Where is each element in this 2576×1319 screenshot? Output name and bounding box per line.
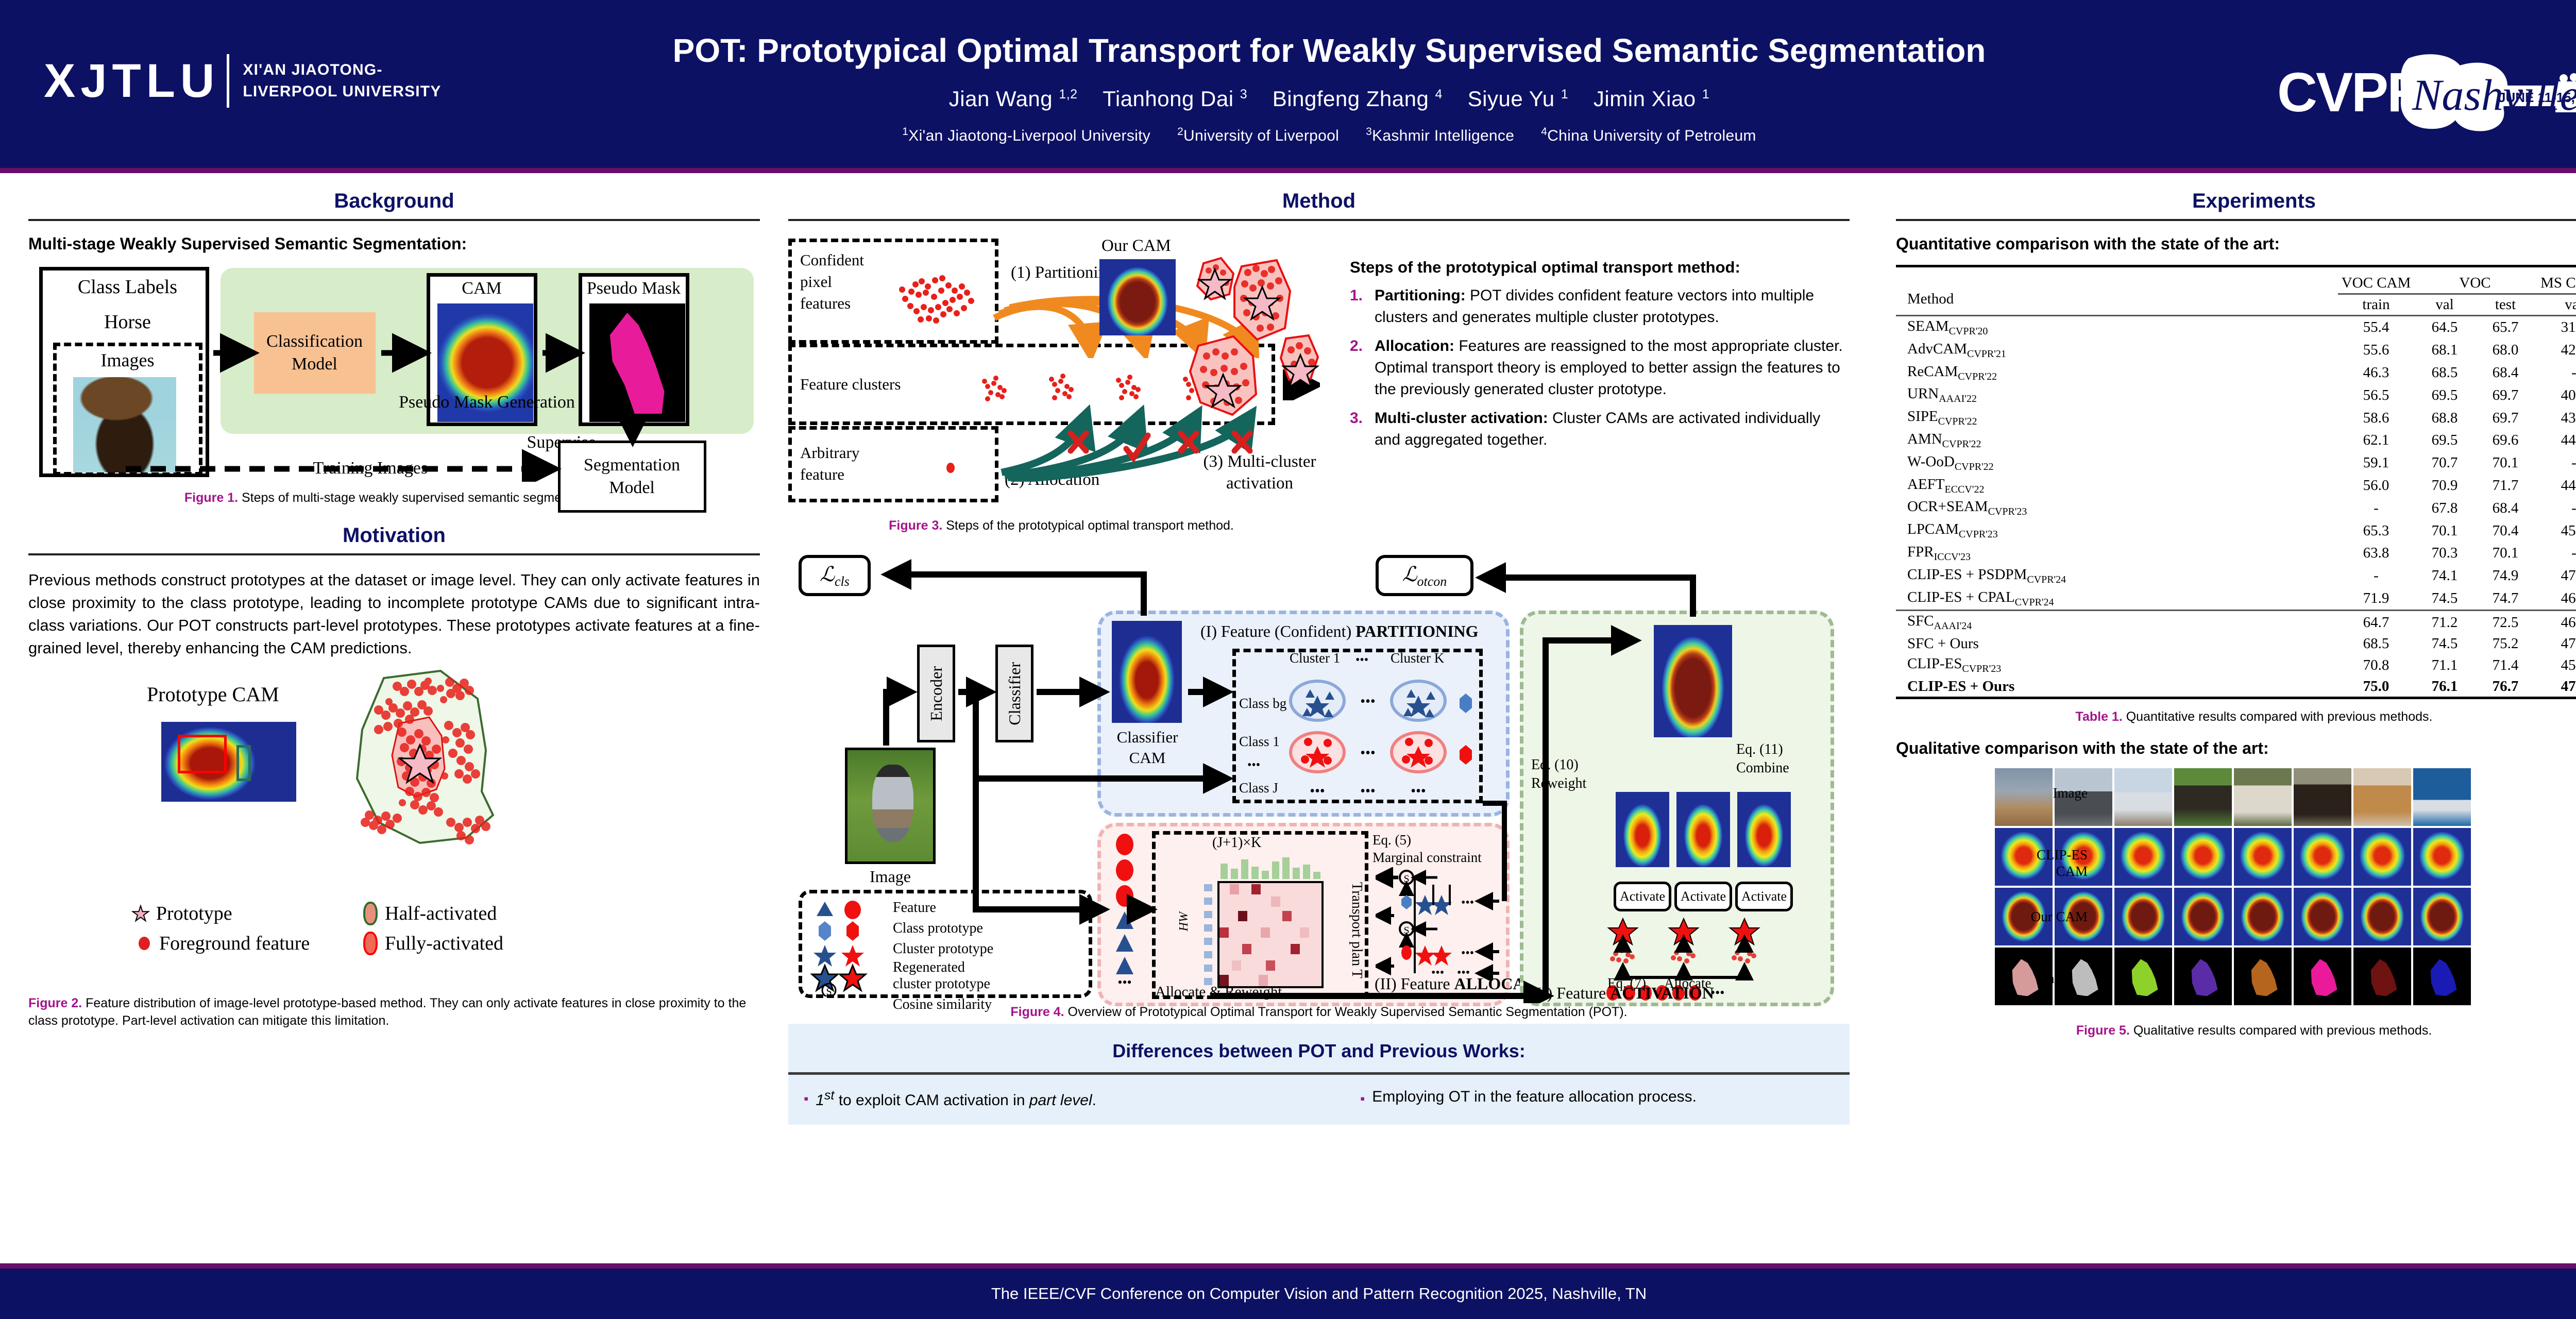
cell-voc-cam-train: 68.5 <box>2338 634 2414 654</box>
figure-2-caption: Figure 2. Feature distribution of image-… <box>28 994 760 1029</box>
cell-voc-val: 68.1 <box>2414 339 2475 362</box>
cell-voc-cam-train: 62.1 <box>2338 429 2414 452</box>
cell-coco-val: 44.8 <box>2536 475 2576 497</box>
cell-coco-val: 47.9 <box>2536 677 2576 698</box>
table-row: FPRICCV'2363.870.370.1- <box>1896 542 2576 565</box>
section-title-method: Method <box>788 190 1850 213</box>
section-rule-motivation <box>28 553 760 555</box>
confident-feature-scatter <box>885 263 993 335</box>
cell-method: OCR+SEAMCVPR'23 <box>1896 497 2338 519</box>
cell-voc-val: 74.1 <box>2414 565 2475 587</box>
column-experiments: Experiments Quantitative comparison with… <box>1896 190 2576 1039</box>
figure-5-cell <box>2293 946 2352 1006</box>
table-row: CLIP-ES + Ours75.076.176.747.9 <box>1896 677 2576 698</box>
cell-coco-val: 45.4 <box>2536 654 2576 677</box>
table-subheader-coco-val: val <box>2536 294 2576 316</box>
cell-voc-val: 71.1 <box>2414 654 2475 677</box>
cell-voc-cam-train: 63.8 <box>2338 542 2414 565</box>
figure-5-cell <box>2173 827 2233 887</box>
cell-coco-val: 47.2 <box>2536 565 2576 587</box>
cell-voc-val: 70.3 <box>2414 542 2475 565</box>
cell-coco-val: 46.8 <box>2536 587 2576 611</box>
figure-5-cell <box>2293 827 2352 887</box>
half-activated-blob-icon <box>363 902 378 925</box>
cell-coco-val: 42.6 <box>2536 339 2576 362</box>
cell-voc-test: 69.7 <box>2475 384 2536 407</box>
prototype-cam-label: Prototype CAM <box>147 682 279 706</box>
cell-method: AMNCVPR'22 <box>1896 429 2338 452</box>
bullet-icon: ▪ <box>804 1088 808 1109</box>
cell-method: CLIP-ES + CPALCVPR'24 <box>1896 587 2338 611</box>
table-row: SIPECVPR'2258.668.869.743.6 <box>1896 407 2576 429</box>
table-row: SFCAAAI'2464.771.272.546.8 <box>1896 611 2576 634</box>
cell-voc-cam-train: 70.8 <box>2338 654 2414 677</box>
figure-5-cell <box>2113 767 2173 827</box>
figure-4-connectors <box>788 539 1850 1003</box>
cell-voc-test: 68.0 <box>2475 339 2536 362</box>
cell-method: SFC + Ours <box>1896 634 2338 654</box>
affiliation: 3Kashmir Intelligence <box>1366 127 1514 144</box>
cell-voc-test: 71.4 <box>2475 654 2536 677</box>
figure-5-row-label: Image <box>1994 785 2088 801</box>
footer-accent-bar <box>0 1263 2576 1269</box>
cell-voc-test: 69.7 <box>2475 407 2536 429</box>
page-title: POT: Prototypical Optimal Transport for … <box>453 31 2205 70</box>
xjtlu-logo-subtitle: XI'AN JIAOTONG- LIVERPOOL UNIVERSITY <box>243 59 441 103</box>
poster-footer: The IEEE/CVF Conference on Computer Visi… <box>0 1269 2576 1319</box>
cell-coco-val: - <box>2536 452 2576 475</box>
cell-voc-cam-train: 75.0 <box>2338 677 2414 698</box>
figure-5-cell <box>2233 767 2293 827</box>
cell-voc-val: 69.5 <box>2414 384 2475 407</box>
fully-activated-blob-icon <box>363 932 378 955</box>
cell-method: SFCAAAI'24 <box>1896 611 2338 634</box>
arbitrary-feature-box: Arbitrary feature <box>788 426 998 502</box>
figure-5-cell <box>2352 946 2412 1006</box>
cell-voc-cam-train: 58.6 <box>2338 407 2414 429</box>
table-header-voc-cam: VOC CAM <box>2338 266 2414 294</box>
figure-5-cell <box>2173 767 2233 827</box>
cell-voc-cam-train: 55.6 <box>2338 339 2414 362</box>
figure-1-arrows <box>35 263 754 482</box>
table-row: SEAMCVPR'2055.464.565.731.9 <box>1896 316 2576 339</box>
cell-voc-val: 74.5 <box>2414 634 2475 654</box>
cell-voc-test: 71.7 <box>2475 475 2536 497</box>
section-rule-method <box>788 219 1850 221</box>
bullet-icon: ▪ <box>1360 1088 1365 1109</box>
figure-5-cell <box>2113 887 2173 946</box>
figure-5-cell <box>2412 767 2472 827</box>
table-row: W-OoDCVPR'2259.170.770.1- <box>1896 452 2576 475</box>
cvpr-logo-script: Nashville <box>2412 70 2576 120</box>
step-item: 3.Multi-cluster activation: Cluster CAMs… <box>1350 408 1847 451</box>
cell-voc-val: 64.5 <box>2414 316 2475 339</box>
figure-3-pot-steps: Confident pixel features <box>788 234 1334 502</box>
cell-coco-val: - <box>2536 542 2576 565</box>
author: Jimin Xiao 1 <box>1594 87 1709 111</box>
feature-scatter-plot <box>296 668 564 900</box>
feature-clusters-label: Feature clusters <box>800 375 901 394</box>
cell-voc-test: 70.1 <box>2475 452 2536 475</box>
cell-voc-test: 74.7 <box>2475 587 2536 611</box>
figure-5-cell <box>2233 887 2293 946</box>
author: Tianhong Dai 3 <box>1103 87 1247 111</box>
affiliation: 1Xi'an Jiaotong-Liverpool University <box>902 127 1150 144</box>
table-header-ms-coco: MS COCO <box>2536 266 2576 294</box>
green-highlight-box <box>236 745 251 781</box>
quantitative-subhead: Quantitative comparison with the state o… <box>1896 234 2576 253</box>
figure-5-cell <box>2412 887 2472 946</box>
cell-voc-cam-train: 64.7 <box>2338 611 2414 634</box>
cell-voc-cam-train: 55.4 <box>2338 316 2414 339</box>
groundtruth-mask-shape <box>2366 959 2398 996</box>
figure-5-cell <box>2113 827 2173 887</box>
confident-pixel-features-box: Confident pixel features <box>788 239 998 344</box>
xjtlu-logo-wordmark: XJTLU <box>44 55 219 107</box>
table-row: OCR+SEAMCVPR'23-67.868.4- <box>1896 497 2576 519</box>
table-row: AEFTECCV'2256.070.971.744.8 <box>1896 475 2576 497</box>
cell-method: AEFTECCV'22 <box>1896 475 2338 497</box>
figure-5-cell <box>2293 887 2352 946</box>
table-row: CLIP-ESCVPR'2370.871.171.445.4 <box>1896 654 2576 677</box>
differences-title: Differences between POT and Previous Wor… <box>788 1033 1850 1072</box>
cell-voc-cam-train: 46.3 <box>2338 362 2414 384</box>
cell-voc-val: 68.5 <box>2414 362 2475 384</box>
section-title-background: Background <box>28 190 760 213</box>
cell-method: LPCAMCVPR'23 <box>1896 519 2338 542</box>
cell-method: CLIP-ES + Ours <box>1896 677 2338 698</box>
footer-text: The IEEE/CVF Conference on Computer Visi… <box>991 1284 1647 1303</box>
cell-coco-val: - <box>2536 362 2576 384</box>
cell-voc-test: 69.6 <box>2475 429 2536 452</box>
groundtruth-mask-shape <box>2127 959 2159 996</box>
step-item: 1.Partitioning: POT divides confident fe… <box>1350 285 1847 328</box>
figure-2-legend: ★Prototype Half-activated Foreground fea… <box>131 899 647 958</box>
section-title-experiments: Experiments <box>1896 190 2576 213</box>
cvpr-nashville-logo: CVPR JUNE 11-15, 2025 Nashville <box>2277 40 2576 136</box>
title-block: POT: Prototypical Optimal Transport for … <box>453 31 2205 145</box>
affiliation: 4China University of Petroleum <box>1541 127 1756 144</box>
cell-method: CLIP-ES + PSDPMCVPR'24 <box>1896 565 2338 587</box>
cell-voc-test: 70.4 <box>2475 519 2536 542</box>
cell-voc-val: 69.5 <box>2414 429 2475 452</box>
cell-coco-val: 40.7 <box>2536 384 2576 407</box>
arbitrary-feature-label: Arbitrary feature <box>800 442 859 485</box>
figure-5-cell <box>2173 946 2233 1006</box>
affiliation: 2University of Liverpool <box>1177 127 1339 144</box>
table-row: LPCAMCVPR'2365.370.170.445.5 <box>1896 519 2576 542</box>
cell-method: W-OoDCVPR'22 <box>1896 452 2338 475</box>
red-dot-icon <box>139 937 150 950</box>
cell-voc-val: 70.1 <box>2414 519 2475 542</box>
our-cam-label: Our CAM <box>1101 236 1171 256</box>
figure-5-cell <box>2412 946 2472 1006</box>
difference-item: ▪ Employing OT in the feature allocation… <box>1360 1088 1697 1109</box>
cell-voc-cam-train: 56.0 <box>2338 475 2414 497</box>
cell-method: ReCAMCVPR'22 <box>1896 362 2338 384</box>
section-rule-experiments <box>1896 219 2576 221</box>
table-1-quantitative: Method VOC CAM VOC MS COCO train val tes… <box>1896 265 2576 700</box>
table-header-voc: VOC <box>2414 266 2536 294</box>
step3-multicluster-label: (3) Multi-cluster activation <box>1185 451 1334 494</box>
table-row: SFC + Ours68.574.575.247.6 <box>1896 634 2576 654</box>
logo-divider <box>227 54 229 108</box>
figure-5-caption: Figure 5. Qualitative results compared w… <box>1896 1022 2576 1039</box>
header-accent-bar <box>0 168 2576 173</box>
cell-voc-val: 68.8 <box>2414 407 2475 429</box>
figure-5-row-label: CLIP-ES CAM <box>1994 847 2088 880</box>
table-row: ReCAMCVPR'2246.368.568.4- <box>1896 362 2576 384</box>
author: Bingfeng Zhang 4 <box>1273 87 1443 111</box>
cell-voc-val: 70.9 <box>2414 475 2475 497</box>
cell-coco-val: 31.9 <box>2536 316 2576 339</box>
cell-coco-val: 45.5 <box>2536 519 2576 542</box>
cell-voc-test: 68.4 <box>2475 362 2536 384</box>
background-subhead: Multi-stage Weakly Supervised Semantic S… <box>28 234 760 253</box>
differences-box: Differences between POT and Previous Wor… <box>788 1024 1850 1125</box>
method-steps-list: Steps of the prototypical optimal transp… <box>1350 258 1847 458</box>
difference-item: ▪ 1st to exploit CAM activation in part … <box>804 1088 1360 1109</box>
cell-coco-val: 43.6 <box>2536 407 2576 429</box>
cell-voc-cam-train: 56.5 <box>2338 384 2414 407</box>
cell-method: URNAAAI'22 <box>1896 384 2338 407</box>
cell-coco-val: 44.7 <box>2536 429 2576 452</box>
cell-voc-val: 71.2 <box>2414 611 2475 634</box>
table-row: CLIP-ES + CPALCVPR'2471.974.574.746.8 <box>1896 587 2576 611</box>
figure-5-qualitative: ImageCLIP-ES CAMOur CAMGroundtruth Figur… <box>1896 767 2576 1039</box>
cell-voc-cam-train: 65.3 <box>2338 519 2414 542</box>
cell-voc-cam-train: - <box>2338 565 2414 587</box>
poster-header: XJTLU XI'AN JIAOTONG- LIVERPOOL UNIVERSI… <box>0 0 2576 168</box>
figure-2-feature-distribution: Prototype CAM <box>28 663 747 992</box>
table-row: CLIP-ES + PSDPMCVPR'24-74.174.947.2 <box>1896 565 2576 587</box>
figure-5-row <box>1994 946 2576 1006</box>
cell-method: SEAMCVPR'20 <box>1896 316 2338 339</box>
author: Jian Wang 1,2 <box>949 87 1078 111</box>
cell-voc-test: 74.9 <box>2475 565 2536 587</box>
confident-pixel-features-label: Confident pixel features <box>800 249 864 314</box>
table-subheader-val: val <box>2414 294 2475 316</box>
table-1-caption: Table 1. Quantitative results compared w… <box>1896 708 2576 725</box>
cell-method: CLIP-ESCVPR'23 <box>1896 654 2338 677</box>
table-subheader-test: test <box>2475 294 2536 316</box>
table-row: AMNCVPR'2262.169.569.644.7 <box>1896 429 2576 452</box>
cell-coco-val: 46.8 <box>2536 611 2576 634</box>
table-row: AdvCAMCVPR'2155.668.168.042.6 <box>1896 339 2576 362</box>
column-method: Method Confident pixel features <box>788 190 1850 1125</box>
our-cam-image <box>1099 259 1176 335</box>
cell-voc-cam-train: 71.9 <box>2338 587 2414 611</box>
steps-heading: Steps of the prototypical optimal transp… <box>1350 258 1847 277</box>
figure-5-cell <box>2113 946 2173 1006</box>
author-list: Jian Wang 1,2 Tianhong Dai 3 Bingfeng Zh… <box>453 87 2205 111</box>
figure-1-pipeline: Class Labels Horse Images Classification… <box>35 263 754 482</box>
multicluster-activation-plot <box>1180 255 1334 456</box>
figure-5-cell <box>2233 946 2293 1006</box>
figure-5-cell <box>2233 827 2293 887</box>
cell-voc-cam-train: 59.1 <box>2338 452 2414 475</box>
figure-5-cell <box>2352 827 2412 887</box>
figure-5-cell <box>2173 887 2233 946</box>
table-bottom-rule <box>1896 698 2576 700</box>
cell-voc-test: 65.7 <box>2475 316 2536 339</box>
figure-4-overview: ℒcls ℒotcon Encoder Classifier Image <box>788 539 1850 1003</box>
cell-voc-val: 74.5 <box>2414 587 2475 611</box>
column-left: Background Multi-stage Weakly Supervised… <box>28 190 760 1029</box>
cell-voc-test: 75.2 <box>2475 634 2536 654</box>
table-header-method: Method <box>1896 266 2338 316</box>
step-item: 2.Allocation: Features are reassigned to… <box>1350 335 1847 400</box>
cell-coco-val: - <box>2536 497 2576 519</box>
xjtlu-logo: XJTLU XI'AN JIAOTONG- LIVERPOOL UNIVERSI… <box>44 54 442 108</box>
groundtruth-mask-shape <box>2426 959 2458 996</box>
star-icon: ★ <box>131 902 150 926</box>
table-row: URNAAAI'2256.569.569.740.7 <box>1896 384 2576 407</box>
cell-coco-val: 47.6 <box>2536 634 2576 654</box>
cell-method: SIPECVPR'22 <box>1896 407 2338 429</box>
figure-5-row-label: Our CAM <box>1994 908 2088 925</box>
cell-voc-val: 67.8 <box>2414 497 2475 519</box>
cell-method: AdvCAMCVPR'21 <box>1896 339 2338 362</box>
groundtruth-mask-shape <box>2247 959 2279 996</box>
affiliation-list: 1Xi'an Jiaotong-Liverpool University2Uni… <box>453 126 2205 145</box>
author: Siyue Yu 1 <box>1468 87 1569 111</box>
figure-5-cell <box>2412 827 2472 887</box>
cell-method: FPRICCV'23 <box>1896 542 2338 565</box>
table-subheader-train: train <box>2338 294 2414 316</box>
cell-voc-test: 68.4 <box>2475 497 2536 519</box>
qualitative-subhead: Qualitative comparison with the state of… <box>1896 739 2576 758</box>
groundtruth-mask-shape <box>2307 959 2338 996</box>
motivation-body: Previous methods construct prototypes at… <box>28 569 760 659</box>
groundtruth-mask-shape <box>2187 959 2219 996</box>
figure-5-cell <box>2352 767 2412 827</box>
cell-voc-test: 72.5 <box>2475 611 2536 634</box>
section-title-motivation: Motivation <box>28 524 760 547</box>
red-highlight-box <box>178 735 227 773</box>
figure-5-cell <box>2352 887 2412 946</box>
cell-voc-cam-train: - <box>2338 497 2414 519</box>
figure-5-cell <box>2293 767 2352 827</box>
cell-voc-test: 70.1 <box>2475 542 2536 565</box>
cell-voc-val: 70.7 <box>2414 452 2475 475</box>
arbitrary-feature-dot <box>946 463 955 473</box>
cell-voc-val: 76.1 <box>2414 677 2475 698</box>
cell-voc-test: 76.7 <box>2475 677 2536 698</box>
section-rule <box>28 219 760 221</box>
